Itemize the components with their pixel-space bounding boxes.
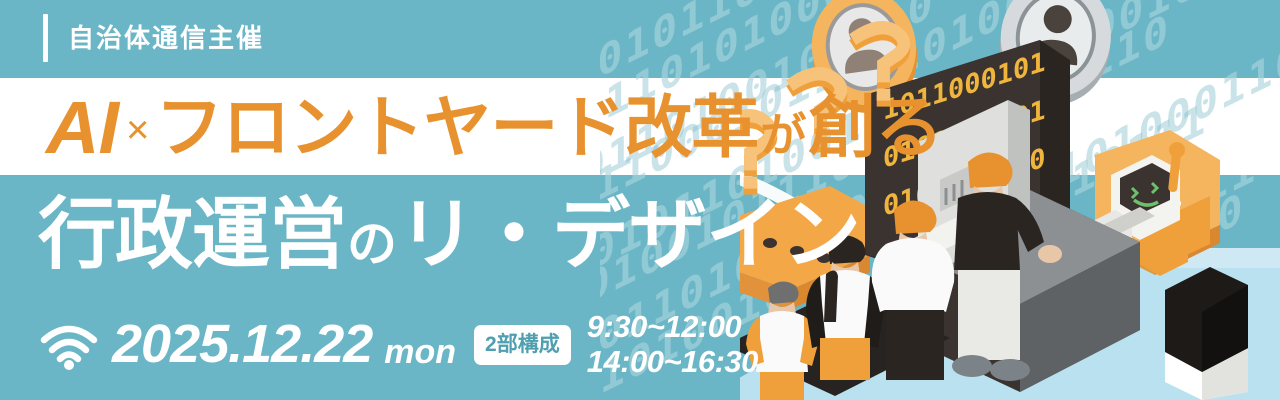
schedule-row: 2025.12.22 mon 2部構成 9:30~12:00 14:00~16:… bbox=[40, 308, 758, 380]
headline-particle-2: の bbox=[347, 219, 397, 269]
kiosk-stand bbox=[1165, 267, 1248, 400]
headline-part-3: 行政運営 bbox=[38, 195, 346, 273]
event-banner: 1010110111001 10110101000110 01101001011… bbox=[0, 0, 1280, 400]
eyebrow-accent-bar bbox=[43, 14, 48, 62]
status-badge: 2部構成 bbox=[474, 325, 571, 365]
event-date: 2025.12.22 bbox=[112, 317, 372, 371]
session-times: 9:30~12:00 14:00~16:30 bbox=[587, 310, 758, 379]
eyebrow: 自治体通信主催 bbox=[43, 12, 264, 64]
headline-line-1: AI × フロントヤード改革 が 創る bbox=[46, 84, 942, 172]
session-time-2: 14:00~16:30 bbox=[587, 344, 758, 379]
wifi-icon bbox=[40, 324, 98, 370]
eyebrow-text: 自治体通信主催 bbox=[68, 25, 264, 51]
headline-part-1: フロントヤード改革 bbox=[155, 94, 758, 162]
headline-cross-icon: × bbox=[126, 110, 149, 150]
headline-ai: AI bbox=[46, 91, 118, 165]
headline-part-4: リ・デザイン bbox=[398, 195, 860, 273]
headline-line-2: 行政運営 の リ・デザイン bbox=[38, 188, 860, 280]
session-time-1: 9:30~12:00 bbox=[587, 309, 741, 344]
headline-part-2: 創る bbox=[808, 94, 942, 162]
headline-particle-1: が bbox=[760, 112, 806, 158]
event-day-of-week: mon bbox=[384, 335, 456, 369]
